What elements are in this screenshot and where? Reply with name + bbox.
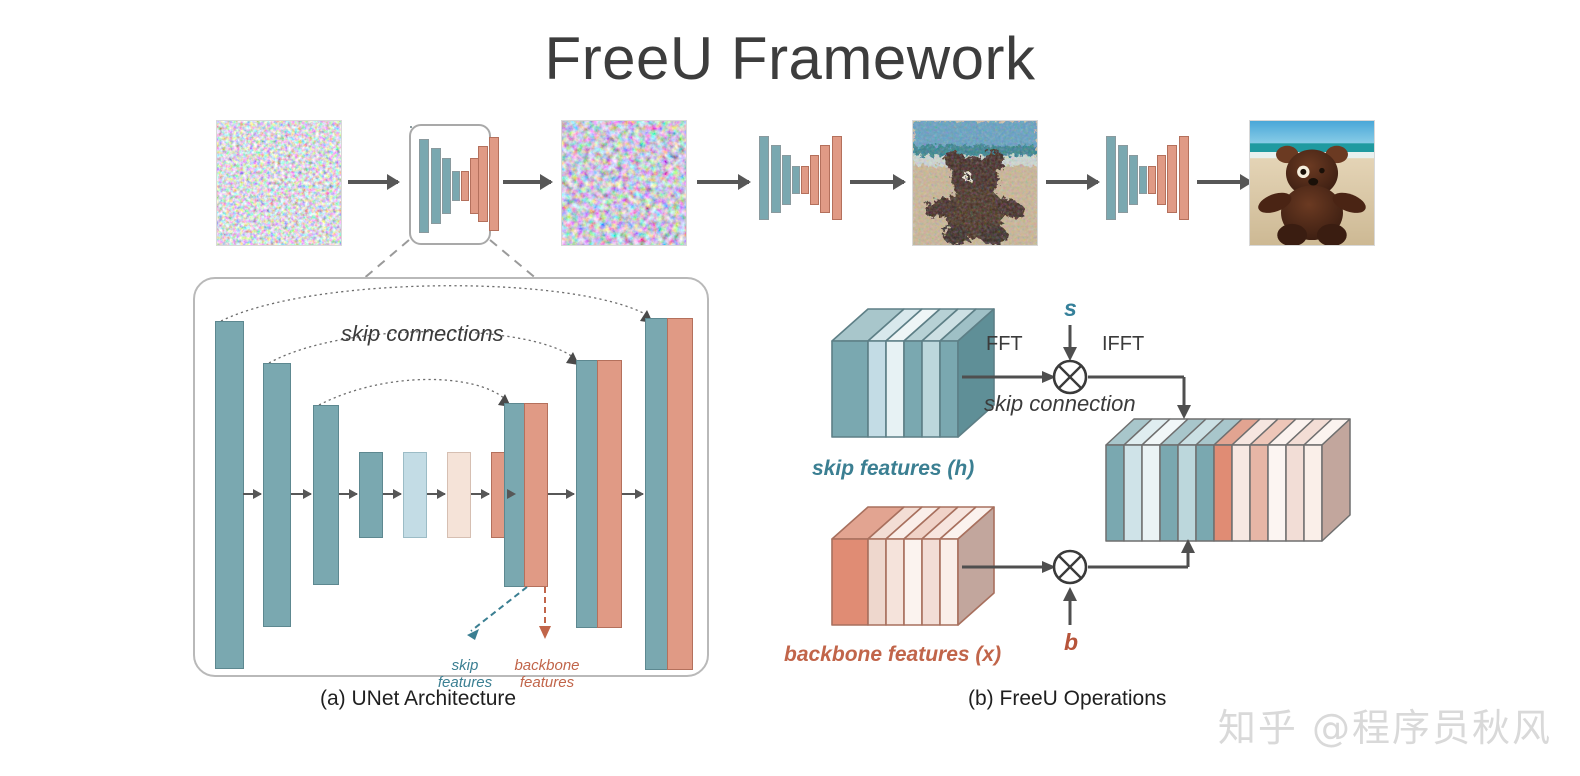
unet-bar [452, 171, 460, 201]
unet-bar [419, 139, 429, 233]
caption-panel-a: (a) UNet Architecture [320, 687, 516, 711]
arrow-1 [348, 180, 398, 184]
noise-texture-2 [562, 121, 686, 245]
noise-texture-1 [217, 121, 341, 245]
arrow-5 [1046, 180, 1098, 184]
bear-noisy-art [913, 121, 1037, 245]
flow-arrow-4 [383, 493, 401, 495]
flow-arrow-6 [471, 493, 489, 495]
arrow-2 [503, 180, 551, 184]
bear-image-noisy [912, 120, 1038, 246]
bear-final-art [1250, 121, 1374, 245]
arrow-3 [697, 180, 749, 184]
skip-connections-label: skip connections [341, 321, 504, 347]
unet-bar [1167, 145, 1177, 213]
page-title: FreeU Framework [0, 24, 1580, 93]
encoder-bar-1 [215, 321, 244, 669]
unet-bar [461, 171, 469, 201]
panel-unet-architecture: skip connections skip features backbone … [193, 277, 709, 677]
bottleneck-bar-2 [403, 452, 427, 538]
unet-bar [1179, 136, 1189, 220]
watermark: 知乎 @程序员秋风 [1218, 697, 1552, 752]
bear-image-final [1249, 120, 1375, 246]
caption-panel-b: (b) FreeU Operations [968, 687, 1166, 711]
bottleneck-bar-3 [447, 452, 471, 538]
panel-freeu-operations: skip features (h) backbone features (x) [790, 285, 1390, 675]
flow-arrow-3 [339, 493, 357, 495]
flow-arrow-9 [622, 493, 643, 495]
decoder-backbone-half-3 [667, 318, 693, 670]
noise-image-2 [561, 120, 687, 246]
unet-bar [1118, 145, 1128, 213]
unet-bar [1139, 166, 1147, 194]
skip-features-line1: skip [452, 657, 479, 674]
unet-bar [1148, 166, 1156, 194]
unet-bar [792, 166, 800, 194]
decoder-backbone-half-2 [597, 360, 622, 628]
flow-arrow-2 [291, 493, 311, 495]
decoder-backbone-half-1 [524, 403, 548, 587]
diffusion-pipeline [0, 112, 1580, 252]
fft-label: FFT [986, 333, 1023, 356]
unet-bar [489, 137, 499, 231]
flow-arrow-5 [427, 493, 445, 495]
flow-arrow-8 [548, 493, 574, 495]
unet-bar [431, 148, 441, 224]
unet-bar [832, 136, 842, 220]
unet-bar [820, 145, 830, 213]
noise-image-1 [216, 120, 342, 246]
backbone-features-line2: features [520, 674, 574, 691]
unet-bar [1157, 155, 1166, 205]
unet-bar [478, 146, 488, 222]
unet-bar [771, 145, 781, 213]
unet-bar [442, 158, 451, 214]
unet-bar [1106, 136, 1116, 220]
feature-callout-arrows [423, 579, 583, 655]
scale-factor-s: s [1064, 295, 1077, 322]
encoder-bar-3 [313, 405, 339, 585]
unet-bar [782, 155, 791, 205]
scale-factor-b: b [1064, 629, 1078, 656]
flow-arrow-1 [243, 493, 261, 495]
backbone-features-line1: backbone [514, 657, 579, 674]
arrow-4 [850, 180, 904, 184]
unet-bar [759, 136, 769, 220]
unet-bar [810, 155, 819, 205]
unet-bar-spacer [410, 126, 412, 128]
freeu-wiring [790, 285, 1390, 675]
unet-step-3 [1104, 130, 1174, 234]
bottleneck-bar-1 [359, 452, 383, 538]
decoder-skip-half-3 [645, 318, 669, 670]
arrow-6 [1197, 180, 1251, 184]
unet-bar [1129, 155, 1138, 205]
ifft-label: IFFT [1102, 333, 1144, 356]
skip-connection-label: skip connection [984, 391, 1136, 417]
unet-step-2 [757, 130, 827, 234]
unet-bar [801, 166, 809, 194]
encoder-bar-2 [263, 363, 291, 627]
